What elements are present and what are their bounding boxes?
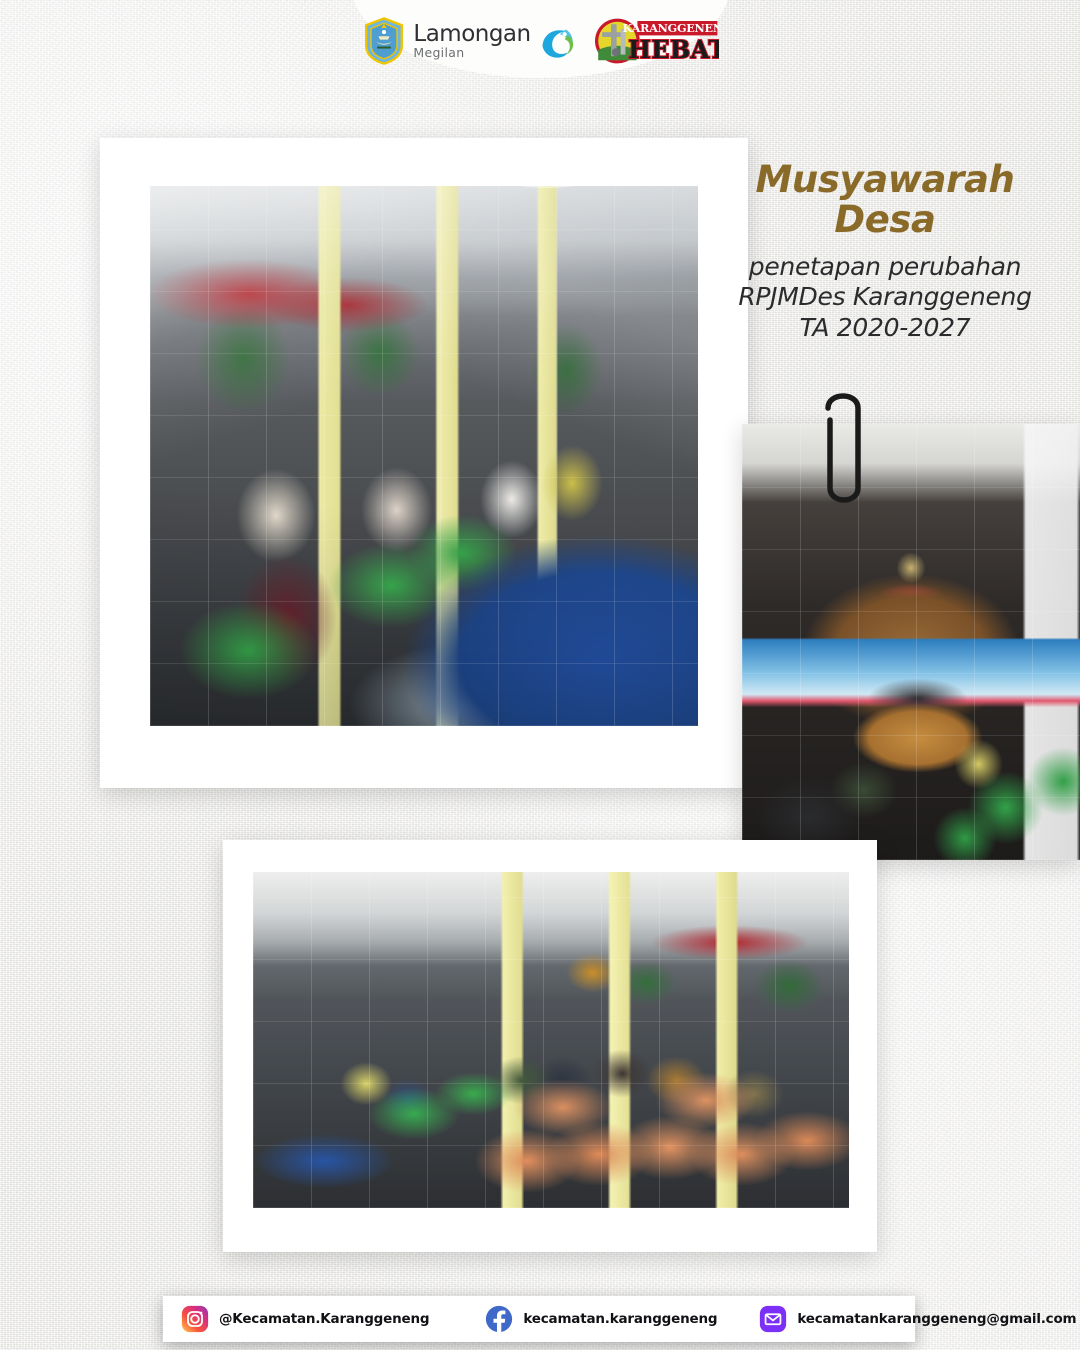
photo-hall-stage-banner	[742, 424, 1080, 860]
logo-row: Lamongan Megilan	[363, 16, 718, 66]
lamongan-wordmark-line2: Megilan	[413, 47, 530, 60]
page-subtitle: penetapan perubahan RPJMDes Karanggeneng…	[720, 252, 1050, 344]
photo-image-hall-stage	[742, 424, 1080, 860]
email-icon[interactable]	[759, 1305, 787, 1333]
photo-frame-right	[742, 424, 1080, 860]
footer-item-email[interactable]: kecamatankaranggeneng@gmail.com	[759, 1305, 1076, 1333]
footer-contact-bar: @Kecamatan.Karanggeneng kecamatan.karang…	[163, 1296, 915, 1342]
photo-frame-top-left	[100, 138, 748, 788]
footer-email-address: kecamatankaranggeneng@gmail.com	[797, 1311, 1076, 1327]
photo-image-audience-orange	[253, 872, 849, 1208]
lamongan-wordmark: Lamongan Megilan	[413, 23, 530, 60]
footer-instagram-handle: @Kecamatan.Karanggeneng	[219, 1311, 429, 1327]
header-logo-bar: Lamongan Megilan	[352, 0, 730, 78]
svg-text:KARANGGENENG: KARANGGENENG	[622, 21, 718, 35]
photo-frame-bottom	[223, 840, 877, 1252]
megilan-wave-icon	[533, 18, 579, 64]
footer-facebook-handle: kecamatan.karanggeneng	[523, 1311, 717, 1327]
lamongan-regency-seal-icon	[363, 17, 405, 65]
photo-image-audience-women	[150, 186, 698, 726]
poster-canvas: Lamongan Megilan	[0, 0, 1080, 1350]
svg-text:HEBAT: HEBAT	[628, 35, 719, 64]
footer-item-instagram[interactable]: @Kecamatan.Karanggeneng	[181, 1305, 429, 1333]
instagram-icon[interactable]	[181, 1305, 209, 1333]
page-title-line2: Desa	[834, 198, 935, 241]
paperclip-icon	[806, 380, 876, 512]
page-title: Musyawarah Desa	[720, 160, 1050, 240]
lamongan-wordmark-line1: Lamongan	[413, 23, 530, 46]
karanggeneng-hebat-icon: KARANGGENENG HEBAT	[591, 16, 719, 66]
photo-audience-orange-chairs	[253, 872, 849, 1208]
facebook-icon[interactable]	[485, 1305, 513, 1333]
photo-meeting-audience-women	[150, 186, 698, 726]
page-title-line1: Musyawarah	[756, 158, 1015, 201]
headline-block: Musyawarah Desa penetapan perubahan RPJM…	[720, 160, 1050, 343]
footer-item-facebook[interactable]: kecamatan.karanggeneng	[485, 1305, 717, 1333]
